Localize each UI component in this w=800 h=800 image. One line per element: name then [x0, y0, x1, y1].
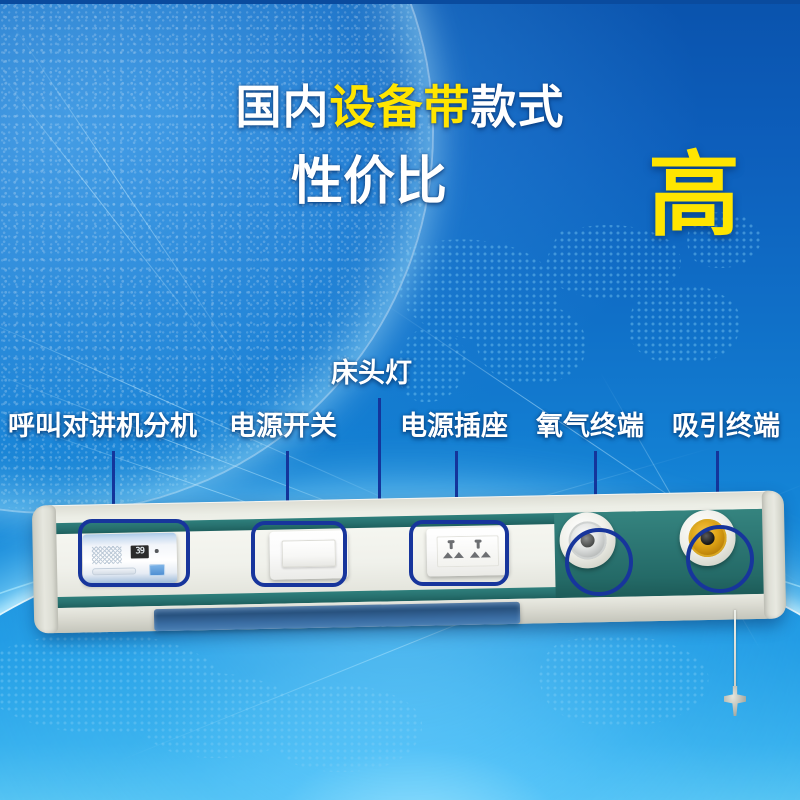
- callout-label-suction: 吸引终端: [672, 413, 780, 440]
- callout-label-intercom: 呼叫对讲机分机: [8, 413, 197, 440]
- banner-canvas: 国内设备带款式 性价比 高 呼叫对讲机分机 电源开关 床头灯 电源插座 氧气终端…: [0, 0, 800, 800]
- highlight-ring-socket: [409, 520, 509, 586]
- headline-part-1: 国内: [236, 81, 330, 133]
- highlight-ring-intercom: [78, 519, 190, 587]
- highlight-ring-oxygen: [565, 528, 633, 596]
- top-edge-bar: [0, 0, 800, 4]
- highlight-ring-suction: [686, 525, 754, 593]
- headline-part-2: 设备带: [330, 81, 471, 133]
- panel-end-cap-left: [32, 505, 59, 633]
- headline-part-3: 款式: [471, 81, 565, 133]
- callout-label-oxygen: 氧气终端: [536, 413, 644, 440]
- callout-label-socket: 电源插座: [400, 413, 508, 440]
- highlight-ring-switch: [251, 521, 347, 587]
- headline-emphasis-gao: 高: [648, 150, 740, 242]
- headline-line-1: 国内设备带款式: [0, 84, 800, 130]
- headline-subtitle: 性价比: [291, 153, 447, 211]
- callout-label-switch: 电源开关: [229, 413, 337, 440]
- suction-pull-cord[interactable]: [734, 610, 736, 696]
- panel-end-cap-right: [762, 490, 787, 618]
- callout-label-lamp: 床头灯: [331, 360, 412, 387]
